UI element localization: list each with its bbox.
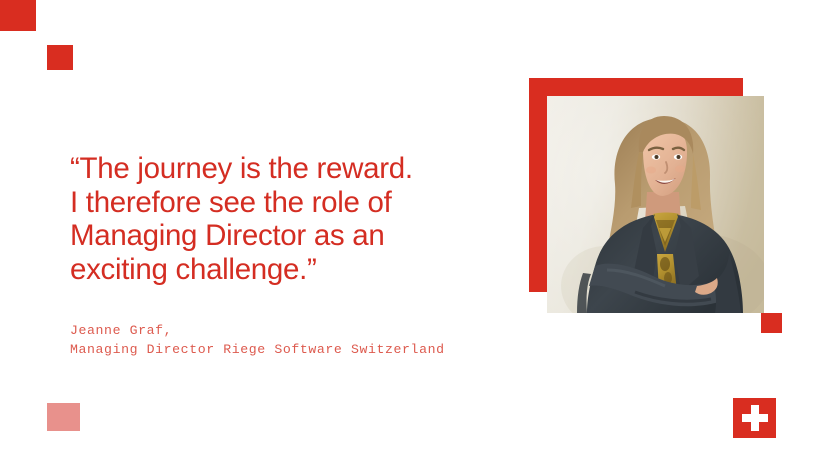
- decorative-square-photo-accent: [761, 313, 782, 333]
- attribution-role: Managing Director Riege Software Switzer…: [70, 341, 530, 360]
- attribution-name: Jeanne Graf,: [70, 322, 530, 341]
- quote-text: “The journey is the reward. I therefore …: [70, 152, 500, 286]
- portrait-illustration: [547, 96, 764, 313]
- decorative-square-small-top-left: [47, 45, 73, 70]
- swiss-cross-vertical: [751, 405, 759, 431]
- decorative-square-pink-bottom-left: [47, 403, 80, 431]
- portrait-photo: [547, 96, 764, 313]
- attribution-block: Jeanne Graf, Managing Director Riege Sof…: [70, 322, 530, 359]
- swiss-flag-icon: [733, 398, 776, 438]
- decorative-square-large-top-left: [0, 0, 36, 31]
- quote-block: “The journey is the reward. I therefore …: [70, 152, 500, 286]
- portrait-photo-group: [529, 78, 784, 334]
- quote-slide: “The journey is the reward. I therefore …: [0, 0, 840, 472]
